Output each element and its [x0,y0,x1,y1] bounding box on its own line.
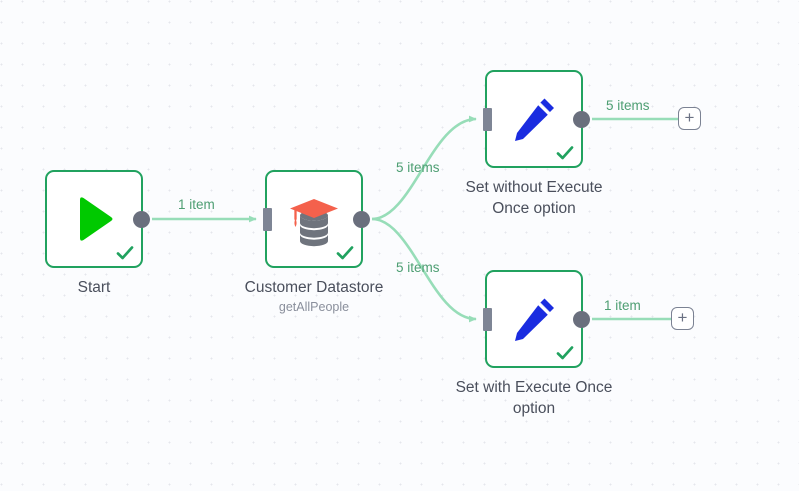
output-port-customer-datastore[interactable] [353,211,370,228]
status-check-icon [115,243,135,263]
edge-label-datastore-to-set-bottom: 5 items [396,260,440,276]
status-check-icon [555,143,575,163]
input-port-customer-datastore[interactable] [263,208,272,231]
node-set-with-execute-once[interactable] [485,270,583,368]
input-port-set-without-execute-once[interactable] [483,108,492,131]
edge-label-start-to-datastore: 1 item [178,197,215,213]
node-start[interactable] [45,170,143,268]
status-check-icon [335,243,355,263]
workflow-canvas[interactable]: Start [0,0,799,491]
status-check-icon [555,343,575,363]
edge-label-set-top-to-plus: 5 items [606,98,650,114]
add-node-button-bottom[interactable]: + [671,307,694,330]
graduation-cap-database-icon [284,189,344,249]
node-set-with-execute-once-label: Set with Execute Once option [434,377,634,419]
pencil-icon [504,289,564,349]
edge-label-set-bottom-to-plus: 1 item [604,298,641,314]
node-customer-datastore-sublabel: getAllPeople [214,299,414,315]
node-set-without-execute-once[interactable] [485,70,583,168]
pencil-icon [504,89,564,149]
node-customer-datastore[interactable] [265,170,363,268]
play-triangle-icon [64,189,124,249]
node-start-label: Start [14,277,174,298]
node-set-without-execute-once-label: Set without Execute Once option [444,177,624,219]
edge-label-datastore-to-set-top: 5 items [396,160,440,176]
output-port-start[interactable] [133,211,150,228]
output-port-set-with-execute-once[interactable] [573,311,590,328]
node-customer-datastore-label: Customer Datastore [214,277,414,298]
add-node-button-top[interactable]: + [678,107,701,130]
output-port-set-without-execute-once[interactable] [573,111,590,128]
input-port-set-with-execute-once[interactable] [483,308,492,331]
